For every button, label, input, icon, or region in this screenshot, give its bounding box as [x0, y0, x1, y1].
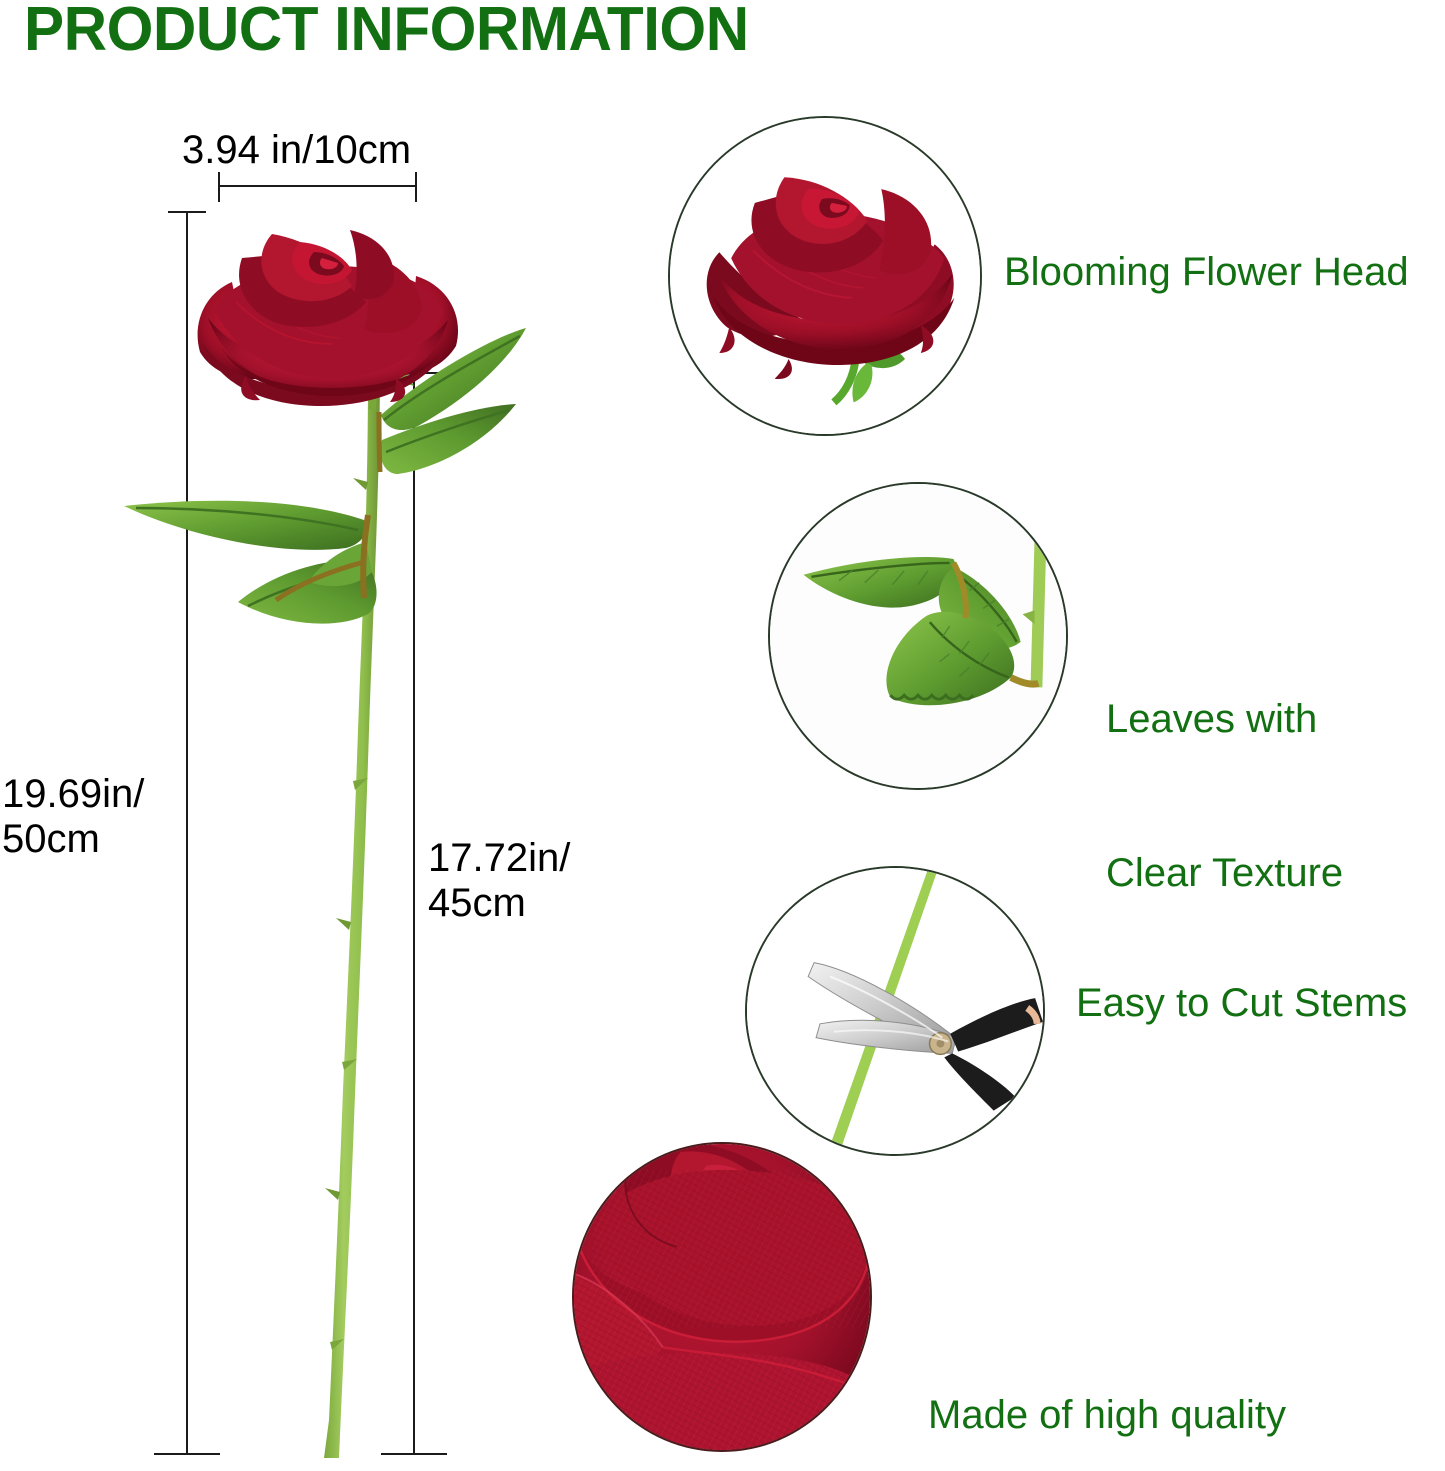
page-title: PRODUCT INFORMATION — [24, 0, 749, 65]
callout-image-blooming-flower-head — [668, 116, 982, 436]
callout-image-easy-to-cut-stems — [745, 866, 1045, 1156]
flower-width-label: 3.94 in/10cm — [182, 128, 411, 173]
callout-label-line: Leaves with — [1106, 694, 1343, 745]
callout-image-leaves-clear-texture — [768, 482, 1068, 790]
rose-illustration — [96, 190, 576, 1460]
scissors-cutting-stem-icon — [747, 868, 1043, 1154]
leaves-closeup-icon — [770, 484, 1066, 788]
rose-bloom — [198, 230, 458, 406]
callout-image-high-quality-silk-cloth — [572, 1142, 872, 1452]
callout-label-line: Clear Texture — [1106, 848, 1343, 899]
flower-width-measurement-line — [219, 185, 417, 187]
callout-label-blooming-flower-head: Blooming Flower Head — [1004, 247, 1409, 298]
callout-label-line: Made of high quality — [928, 1390, 1286, 1441]
silk-fabric-macro-icon — [574, 1144, 870, 1450]
callout-label-easy-to-cut-stems: Easy to Cut Stems — [1076, 978, 1407, 1029]
product-photo-full-rose — [96, 190, 576, 1460]
thorn — [336, 918, 351, 930]
rose-head-closeup-icon — [670, 118, 980, 434]
thorn — [353, 478, 368, 490]
callout-label-leaves-clear-texture: Leaves with Clear Texture — [1106, 592, 1343, 1002]
thorn — [325, 1188, 340, 1200]
product-information-infographic: PRODUCT INFORMATION 3.94 in/10cm 19.69in… — [0, 0, 1445, 1471]
lower-leaf-cluster — [124, 501, 377, 624]
callout-label-high-quality-silk-cloth: Made of high quality silk cloth — [928, 1288, 1286, 1471]
